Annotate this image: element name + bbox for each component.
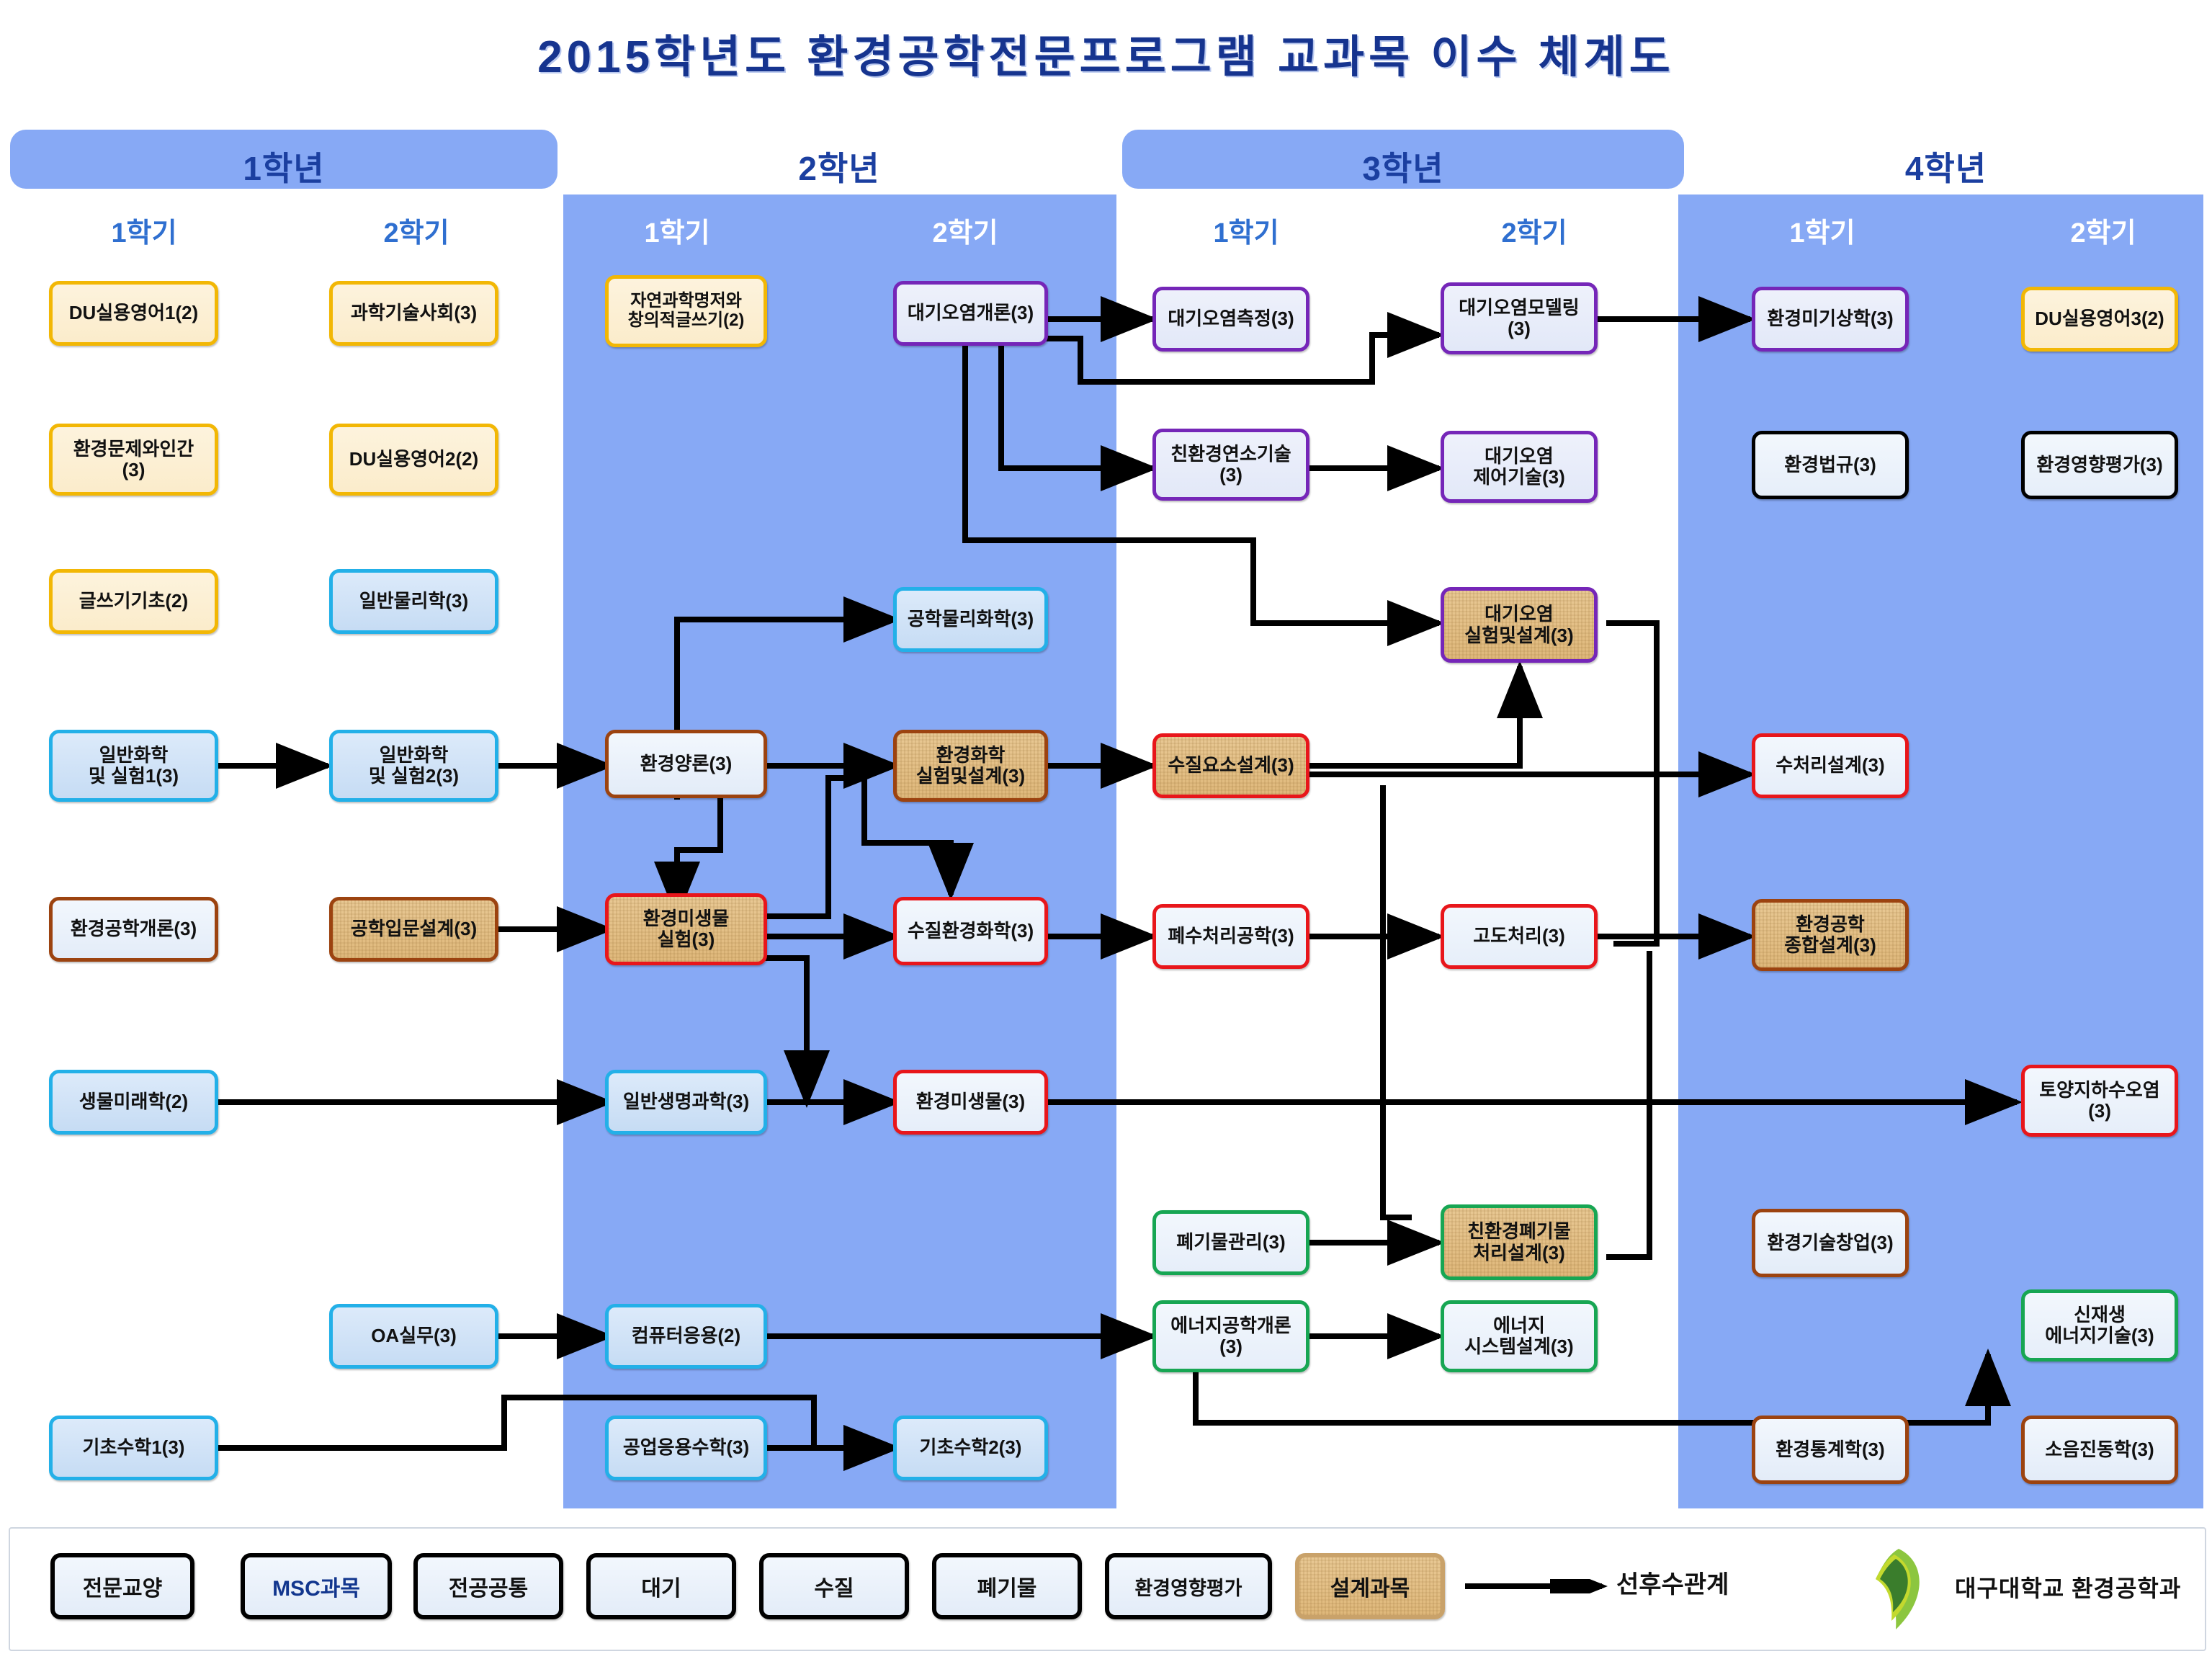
course-node[interactable]: 자연과학명저와 창의적글쓰기(2) — [605, 275, 767, 347]
sem-head-1-1: 1학기 — [36, 210, 252, 250]
year-label-4: 4학년 — [1688, 143, 2203, 190]
legend-item-waste[interactable]: 폐기물 — [932, 1553, 1082, 1619]
sem-head-4-2: 2학기 — [1995, 210, 2211, 250]
course-node[interactable]: 생물미래학(2) — [49, 1070, 218, 1135]
course-node[interactable]: 환경화학 실험및설계(3) — [893, 730, 1048, 802]
course-node[interactable]: 환경공학 종합설계(3) — [1752, 899, 1909, 971]
course-node[interactable]: 기초수학1(3) — [49, 1416, 218, 1480]
university-department-label: 대구대학교 환경공학과 — [1955, 1570, 2181, 1604]
course-node[interactable]: 대기오염측정(3) — [1152, 287, 1309, 352]
course-node[interactable]: 환경미생물(3) — [893, 1070, 1048, 1135]
course-node[interactable]: 수질환경화학(3) — [893, 897, 1048, 965]
course-node[interactable]: DU실용영어1(2) — [49, 281, 218, 346]
sem-head-3-1: 1학기 — [1138, 210, 1354, 250]
course-node[interactable]: 고도처리(3) — [1441, 904, 1598, 969]
course-node[interactable]: 토양지하수오염 (3) — [2021, 1065, 2178, 1137]
course-node[interactable]: 기초수학2(3) — [893, 1416, 1048, 1480]
course-node[interactable]: 환경미기상학(3) — [1752, 287, 1909, 352]
course-node[interactable]: 환경통계학(3) — [1752, 1416, 1909, 1484]
course-node[interactable]: 일반화학 및 실험1(3) — [49, 730, 218, 802]
course-node[interactable]: 공학물리화학(3) — [893, 587, 1048, 652]
legend-item-air[interactable]: 대기 — [586, 1553, 736, 1619]
year-label-1: 1학년 — [10, 143, 558, 190]
course-node[interactable]: 대기오염모델링 (3) — [1441, 282, 1598, 354]
course-node[interactable]: 친환경연소기술 (3) — [1152, 429, 1309, 501]
legend-arrow-label: 선후수관계 — [1616, 1565, 1729, 1600]
course-node[interactable]: 대기오염개론(3) — [893, 281, 1048, 346]
university-logo-icon — [1854, 1546, 1940, 1632]
course-node[interactable]: 일반생명과학(3) — [605, 1070, 767, 1135]
legend-item-common[interactable]: 전공공통 — [413, 1553, 563, 1619]
course-node[interactable]: 수질요소설계(3) — [1152, 733, 1309, 798]
course-node[interactable]: 환경법규(3) — [1752, 431, 1909, 499]
course-node[interactable]: 신재생 에너지기술(3) — [2021, 1289, 2178, 1361]
course-node[interactable]: DU실용영어3(2) — [2021, 287, 2178, 352]
course-node[interactable]: 대기오염 실험및설계(3) — [1441, 587, 1598, 663]
course-node[interactable]: OA실무(3) — [329, 1304, 498, 1369]
page-title: 2015학년도 환경공학전문프로그램 교과목 이수 체계도 — [0, 20, 2212, 85]
course-node[interactable]: 공학입문설계(3) — [329, 897, 498, 962]
course-node[interactable]: 친환경폐기물 처리설계(3) — [1441, 1204, 1598, 1280]
sem-head-3-2: 2학기 — [1426, 210, 1642, 250]
course-node[interactable]: 공업응용수학(3) — [605, 1416, 767, 1480]
legend-item-msc[interactable]: MSC과목 — [241, 1553, 392, 1619]
legend-arrow-icon — [1465, 1579, 1609, 1593]
course-node[interactable]: 에너지공학개론 (3) — [1152, 1300, 1309, 1372]
course-node[interactable]: 과학기술사회(3) — [329, 281, 498, 346]
sem-head-1-2: 2학기 — [308, 210, 524, 250]
legend-item-eia[interactable]: 환경영향평가 — [1105, 1553, 1272, 1619]
course-node[interactable]: 환경양론(3) — [605, 730, 767, 798]
course-node[interactable]: 일반화학 및 실험2(3) — [329, 730, 498, 802]
year-label-3: 3학년 — [1122, 143, 1684, 190]
course-node[interactable]: 환경공학개론(3) — [49, 897, 218, 962]
course-node[interactable]: 소음진동학(3) — [2021, 1416, 2178, 1484]
course-node[interactable]: 대기오염 제어기술(3) — [1441, 431, 1598, 503]
sem-head-2-2: 2학기 — [857, 210, 1073, 250]
course-node[interactable]: 컴퓨터응용(2) — [605, 1304, 767, 1369]
course-node[interactable]: 에너지 시스템설계(3) — [1441, 1300, 1598, 1372]
course-node[interactable]: DU실용영어2(2) — [329, 424, 498, 496]
legend-panel: 전문교양 MSC과목 전공공통 대기 수질 폐기물 환경영향평가 설계과목 선후… — [9, 1527, 2206, 1651]
course-node[interactable]: 환경영향평가(3) — [2021, 431, 2178, 499]
course-node[interactable]: 수처리설계(3) — [1752, 733, 1909, 798]
legend-item-design[interactable]: 설계과목 — [1295, 1553, 1445, 1619]
legend-item-general[interactable]: 전문교양 — [50, 1553, 194, 1619]
course-node[interactable]: 환경기술창업(3) — [1752, 1209, 1909, 1277]
year-label-2: 2학년 — [562, 143, 1116, 190]
legend-item-water[interactable]: 수질 — [759, 1553, 909, 1619]
sem-head-2-1: 1학기 — [569, 210, 785, 250]
sem-head-4-1: 1학기 — [1714, 210, 1930, 250]
course-node[interactable]: 폐수처리공학(3) — [1152, 904, 1309, 969]
course-node[interactable]: 환경문제와인간 (3) — [49, 424, 218, 496]
course-node[interactable]: 폐기물관리(3) — [1152, 1210, 1309, 1275]
course-node[interactable]: 일반물리학(3) — [329, 569, 498, 634]
course-node[interactable]: 환경미생물 실험(3) — [605, 893, 767, 965]
course-node[interactable]: 글쓰기기초(2) — [49, 569, 218, 634]
